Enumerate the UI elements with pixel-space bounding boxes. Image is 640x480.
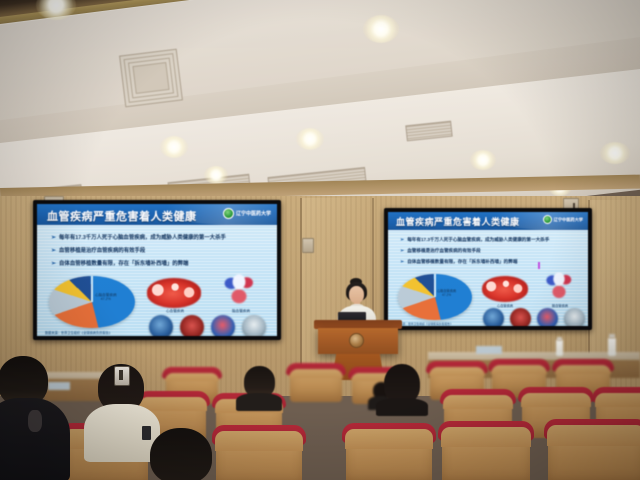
art-caption: 心血管疾病 <box>155 309 195 314</box>
person-shoulders <box>236 393 282 411</box>
ceiling-spotlight <box>204 166 228 184</box>
bullet-text: 自体血管移植数量有限，存在「拆东墙补西墙」的弊端 <box>59 259 188 267</box>
art-caption: 脑血管疾病 <box>223 309 259 314</box>
logo-mark-icon <box>223 208 234 219</box>
hair-clip-slot <box>119 370 123 380</box>
heart-vessel-overlay <box>482 276 528 302</box>
seat-headrest <box>286 363 346 378</box>
pie-slice-label: 心脑血管疾病 47.2% <box>437 290 456 297</box>
bottle-cap <box>609 334 615 338</box>
seat-headrest-inner <box>491 365 547 374</box>
seat-headrest <box>440 389 516 409</box>
auditorium-seat[interactable] <box>442 426 530 480</box>
slide-title: 血管疾病严重危害着人类健康 <box>47 208 197 224</box>
seat-headrest-inner <box>429 367 485 376</box>
bullet-marker-icon: ➢ <box>51 260 56 267</box>
seat-headrest <box>426 361 488 376</box>
audience-member <box>236 366 282 410</box>
laser-pointer-dot <box>538 262 540 269</box>
pie-slice-label: 心脑血管疾病 47.2% <box>95 294 117 302</box>
seat-headrest-inner <box>547 425 640 446</box>
bullet-marker-icon: ➢ <box>400 259 404 265</box>
slide-title: 血管疾病严重危害着人类健康 <box>396 215 520 228</box>
seat-headrest <box>438 421 534 447</box>
ceiling-spotlight <box>600 142 630 164</box>
seat-headrest-inner <box>215 431 303 451</box>
auditorium-seat[interactable] <box>346 428 432 480</box>
brain-vessel-illustration <box>538 272 580 304</box>
medical-thumbnail <box>180 315 204 336</box>
ceiling-spotlight <box>296 128 324 150</box>
left-projection-screen[interactable]: 血管疾病严重危害着人类健康 辽宁中医药大学 ➢ 每年有17.3千万人死于心脑血管… <box>33 200 281 340</box>
audience-member <box>376 364 428 414</box>
lecture-hall-photo: 血管疾病严重危害着人类健康 辽宁中医药大学 ➢ 每年有17.3千万人死于心脑血管… <box>0 0 640 480</box>
bullet-marker-icon: ➢ <box>400 237 404 243</box>
seat-headrest-inner <box>595 393 640 407</box>
pie-label-value: 47.2% <box>437 294 456 298</box>
university-logo: 辽宁中医药大学 <box>223 208 271 219</box>
slide-bullet: ➢ 自体血管移植数量有限，存在「拆东墙补西墙」的弊端 <box>51 259 188 267</box>
bullet-text: 每年有17.3千万人死于心脑血管疾病，成为威胁人类健康的第一大杀手 <box>59 233 226 241</box>
university-logo: 辽宁中医药大学 <box>543 215 583 224</box>
seat-headrest <box>544 419 640 446</box>
brain-vessel-illustration <box>215 274 263 310</box>
medical-thumbnail <box>211 315 235 336</box>
seat-headrest <box>552 359 614 374</box>
medical-thumbnail <box>564 308 585 326</box>
medical-thumbnail <box>510 308 531 326</box>
slide-footnote: 数据来源：世界卫生组织《全球疾病负担报告》 <box>394 322 453 326</box>
slide-bullet: ➢ 血管移植是治疗血管疾病的有效手段 <box>51 246 145 254</box>
bullet-marker-icon: ➢ <box>51 247 56 254</box>
bullet-marker-icon: ➢ <box>51 234 56 241</box>
slide-surface: 血管疾病严重危害着人类健康 辽宁中医药大学 ➢ 每年有17.3千万人死于心脑血管… <box>388 212 588 326</box>
right-projection-screen[interactable]: 血管疾病严重危害着人类健康 辽宁中医药大学 ➢ 每年有17.3千万人死于心脑血管… <box>384 208 592 330</box>
medical-thumbnail <box>149 315 173 336</box>
pie-explode-gap <box>434 274 436 297</box>
table-monitor <box>476 346 502 354</box>
bullet-text: 血管移植是治疗血管疾病的有效手段 <box>59 246 145 254</box>
wall-panel-highlight <box>590 200 640 360</box>
heart-vessel-overlay <box>147 278 201 308</box>
person-collar <box>28 410 42 432</box>
lectern-emblem-icon <box>349 333 364 348</box>
logo-label: 辽宁中医药大学 <box>554 217 583 223</box>
medical-thumbnail <box>242 315 266 336</box>
seat-headrest-inner <box>441 427 531 447</box>
medical-thumbnail <box>483 308 504 326</box>
ceiling-spotlight <box>363 15 399 43</box>
ceiling-air-vent <box>119 49 183 108</box>
bullet-text: 血管移植是治疗血管疾病的有效手段 <box>407 248 481 254</box>
seat-headrest <box>592 387 640 407</box>
slide-bullet: ➢ 自体血管移植数量有限，存在「拆东墙补西墙」的弊端 <box>400 259 517 265</box>
seat-headrest-inner <box>289 369 343 378</box>
auditorium-seat[interactable] <box>216 430 302 480</box>
auditorium-seat[interactable] <box>290 368 342 402</box>
pie-label-value: 47.2% <box>95 298 117 302</box>
logo-mark-icon <box>543 215 552 224</box>
bottle-cap <box>557 337 562 341</box>
audience-member <box>142 428 224 480</box>
seat-headrest <box>342 423 436 449</box>
logo-label: 辽宁中医药大学 <box>236 210 271 217</box>
seat-headrest-inner <box>555 365 611 374</box>
slide-bullet: ➢ 每年有17.3千万人死于心脑血管疾病，成为威胁人类健康的第一大杀手 <box>400 237 549 243</box>
seat-headrest-inner <box>345 429 433 449</box>
seat-headrest <box>212 425 306 451</box>
audience-member <box>0 356 70 480</box>
slide-bullet: ➢ 每年有17.3千万人死于心脑血管疾病，成为威胁人类健康的第一大杀手 <box>51 233 226 241</box>
auditorium-seat[interactable] <box>548 424 640 480</box>
seat-headrest <box>518 387 594 407</box>
seat-headrest <box>162 367 222 381</box>
water-bottle <box>556 340 563 356</box>
water-bottle <box>608 338 616 356</box>
seat-headrest <box>488 359 550 374</box>
bullet-marker-icon: ➢ <box>400 248 404 254</box>
bullet-text: 自体血管移植数量有限，存在「拆东墙补西墙」的弊端 <box>407 259 517 265</box>
seat-headrest-inner <box>521 393 591 407</box>
bullet-text: 每年有17.3千万人死于心脑血管疾病，成为威胁人类健康的第一大杀手 <box>407 237 549 243</box>
pie-explode-gap <box>91 276 93 302</box>
medical-thumbnail <box>537 308 558 326</box>
seat-headrest-inner <box>443 395 513 409</box>
seat-headrest-inner <box>165 373 219 381</box>
person-head <box>150 428 212 480</box>
ceiling-spotlight <box>160 136 188 158</box>
slide-footnote: 数据来源：世界卫生组织《全球疾病负担报告》 <box>45 330 112 335</box>
person-shoulders <box>376 398 428 416</box>
wall-control-panel <box>302 238 314 253</box>
ceiling-spotlight <box>470 150 496 170</box>
slide-bullet: ➢ 血管移植是治疗血管疾病的有效手段 <box>400 248 481 254</box>
slide-surface: 血管疾病严重危害着人类健康 辽宁中医药大学 ➢ 每年有17.3千万人死于心脑血管… <box>37 204 277 336</box>
